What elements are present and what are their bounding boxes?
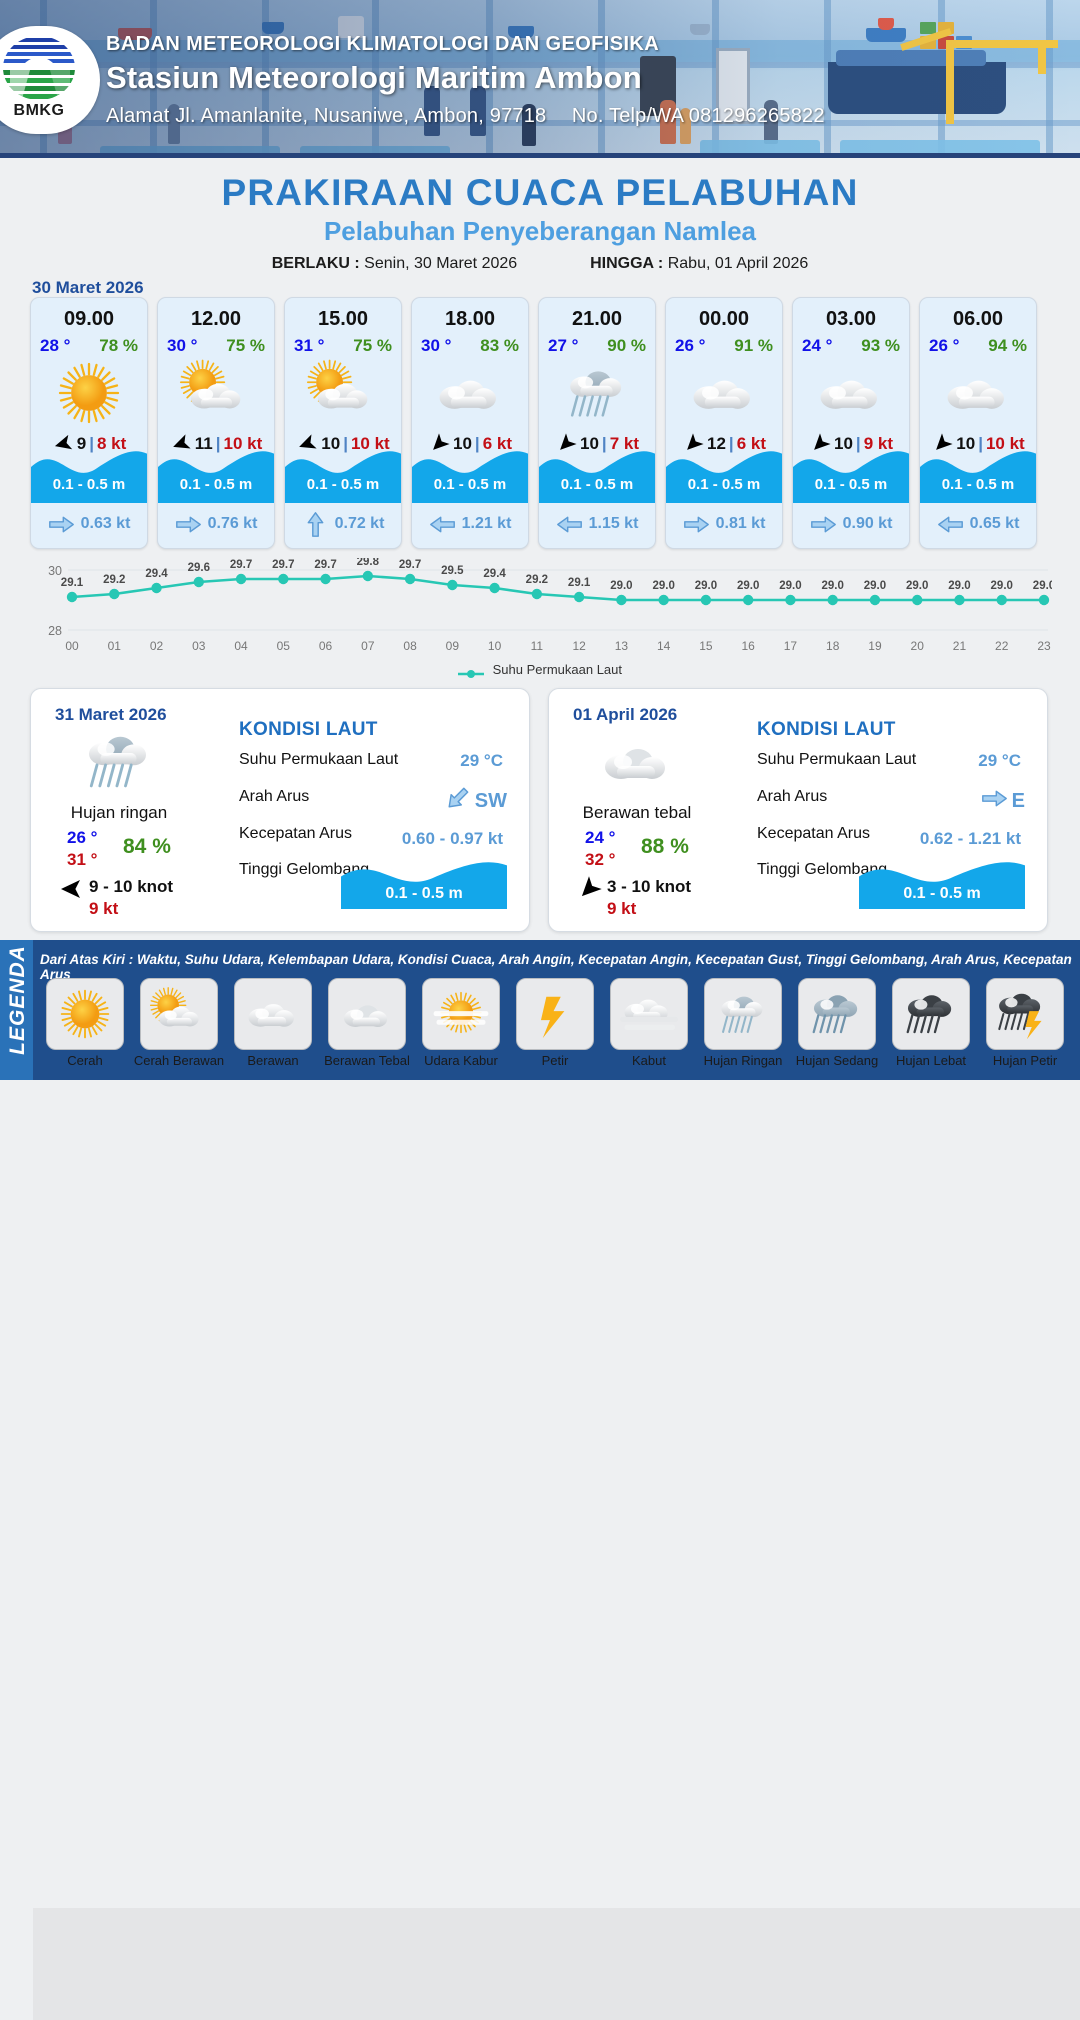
svg-text:08: 08 (403, 639, 417, 653)
svg-text:02: 02 (150, 639, 164, 653)
card-wave-height: 0.1 - 0.5 m (31, 476, 147, 493)
legend-item: Cerah Berawan (132, 978, 226, 1078)
card-wave-height: 0.1 - 0.5 m (920, 476, 1036, 493)
card-time: 15.00 (285, 308, 401, 331)
agency-name: BADAN METEOROLOGI KLIMATOLOGI DAN GEOFIS… (106, 33, 659, 56)
svg-text:16: 16 (741, 639, 755, 653)
day-panel-wind-speed: 9 - 10 knot (89, 877, 173, 897)
svg-text:15: 15 (699, 639, 713, 653)
card-time: 18.00 (412, 308, 528, 331)
svg-text:28: 28 (48, 624, 62, 638)
svg-text:29.7: 29.7 (314, 559, 336, 571)
day-panel-temp-min: 26 ° (67, 828, 97, 848)
current-direction-arrow-icon (556, 515, 583, 534)
weather-petir-icon (516, 978, 594, 1050)
svg-text:29.0: 29.0 (1033, 580, 1052, 592)
svg-text:07: 07 (361, 639, 375, 653)
current-direction-arrow-icon (981, 789, 1008, 813)
forecast-card: 18.00 30 ° 83 % 10 | 6 kt 0.1 - 0.5 m 1.… (411, 297, 529, 549)
svg-text:29.0: 29.0 (991, 580, 1013, 592)
card-wave-graphic (920, 441, 1036, 503)
card-wave-graphic (539, 441, 655, 503)
legend-item-label: Hujan Petir (978, 1053, 1072, 1068)
day-panel-date: 01 April 2026 (573, 705, 677, 725)
value-current-direction: E (981, 787, 1025, 815)
svg-text:29.2: 29.2 (526, 574, 548, 586)
weather-cerah-berawan-icon (158, 360, 274, 426)
forecast-card: 12.00 30 ° 75 % 11 | 10 kt 0.1 - 0.5 m 0… (157, 297, 275, 549)
card-temperature: 30 ° (167, 336, 197, 356)
sea-condition-heading: KONDISI LAUT (239, 719, 378, 741)
card-wave-graphic (285, 441, 401, 503)
legend-item-label: Berawan Tebal (320, 1053, 414, 1068)
svg-text:29.4: 29.4 (145, 568, 168, 580)
legend-item-label: Kabut (602, 1053, 696, 1068)
legend-item: Hujan Petir (978, 978, 1072, 1078)
card-humidity: 75 % (353, 336, 392, 356)
weather-cerah-icon (46, 978, 124, 1050)
forecast-card: 03.00 24 ° 93 % 10 | 9 kt 0.1 - 0.5 m 0.… (792, 297, 910, 549)
value-sea-surface-temp: 29 °C (978, 751, 1021, 771)
svg-text:29.0: 29.0 (652, 580, 674, 592)
label-sea-surface-temp: Suhu Permukaan Laut (757, 751, 916, 769)
weather-hujan-lebat-icon (892, 978, 970, 1050)
forecast-card: 15.00 31 ° 75 % 10 | 10 kt 0.1 - 0.5 m 0… (284, 297, 402, 549)
svg-text:11: 11 (531, 639, 544, 653)
day-panel-humidity: 88 % (641, 835, 689, 859)
weather-hujan-ringan-icon (55, 723, 183, 799)
day-panel-temp-min: 24 ° (585, 828, 615, 848)
current-direction-label: E (1012, 790, 1025, 813)
svg-text:29.0: 29.0 (906, 580, 928, 592)
sst-chart: 283029.129.229.429.629.729.729.729.829.7… (30, 558, 1052, 658)
card-wave-height: 0.1 - 0.5 m (412, 476, 528, 493)
legend-item: Hujan Ringan (696, 978, 790, 1078)
svg-text:17: 17 (784, 639, 798, 653)
weather-hujan-ringan-icon (539, 360, 655, 426)
current-direction-arrow-icon (937, 515, 964, 534)
svg-text:29.1: 29.1 (568, 577, 591, 589)
legend-item-label: Hujan Lebat (884, 1053, 978, 1068)
contact-line: Alamat Jl. Amanlanite, Nusaniwe, Ambon, … (106, 105, 825, 128)
card-current-row: 0.76 kt (158, 510, 274, 538)
card-wave-height: 0.1 - 0.5 m (158, 476, 274, 493)
day-forecast-panel-1: 31 Maret 2026 Hujan ringan 26 ° 31 ° 84 … (30, 688, 530, 932)
day-panel-wind-row: 9 - 10 knot (59, 875, 229, 899)
address-text: Alamat Jl. Amanlanite, Nusaniwe, Ambon, … (106, 105, 546, 127)
svg-text:30: 30 (48, 564, 62, 578)
weather-berawan-tebal-icon (328, 978, 406, 1050)
chart-legend-swatch (458, 667, 484, 675)
berlaku-label: BERLAKU : (272, 255, 360, 272)
card-current-speed: 0.81 kt (716, 515, 766, 533)
legend-icon-row: Cerah Cerah Berawan Berawan Berawan Teba… (38, 978, 1073, 1078)
card-temperature: 26 ° (675, 336, 705, 356)
legend-item: Berawan (226, 978, 320, 1078)
card-time: 21.00 (539, 308, 655, 331)
station-name: Stasiun Meteorologi Maritim Ambon (106, 60, 642, 96)
day-panel-date: 31 Maret 2026 (55, 705, 167, 725)
forecast-card: 21.00 27 ° 90 % 10 | 7 kt 0.1 - 0.5 m 1.… (538, 297, 656, 549)
card-wave-graphic (666, 441, 782, 503)
card-current-speed: 0.76 kt (208, 515, 258, 533)
card-humidity: 94 % (988, 336, 1027, 356)
card-wave-graphic (158, 441, 274, 503)
current-direction-label: SW (475, 790, 507, 813)
weather-cerah-berawan-icon (285, 360, 401, 426)
card-current-row: 0.90 kt (793, 510, 909, 538)
svg-text:13: 13 (615, 639, 629, 653)
value-current-direction: SW (444, 787, 507, 815)
validity-row: BERLAKU : Senin, 30 Maret 2026 HINGGA : … (0, 255, 1080, 273)
header-text-block: BADAN METEOROLOGI KLIMATOLOGI DAN GEOFIS… (106, 0, 986, 158)
svg-text:05: 05 (277, 639, 291, 653)
legend-item-label: Cerah (38, 1053, 132, 1068)
weather-berawan-icon (412, 360, 528, 426)
card-current-row: 1.21 kt (412, 510, 528, 538)
svg-text:29.1: 29.1 (61, 577, 84, 589)
svg-text:04: 04 (234, 639, 248, 653)
card-temperature: 31 ° (294, 336, 324, 356)
weather-berawan-icon (666, 360, 782, 426)
day-panel-humidity: 84 % (123, 835, 171, 859)
current-direction-arrow-icon (444, 789, 471, 813)
card-current-speed: 1.15 kt (589, 515, 639, 533)
svg-text:29.6: 29.6 (188, 562, 210, 574)
day-forecast-panel-2: 01 April 2026 Berawan tebal 24 ° 32 ° 88… (548, 688, 1048, 932)
value-sea-surface-temp: 29 °C (460, 751, 503, 771)
day-panel-temp-max: 32 ° (585, 850, 615, 870)
current-direction-arrow-icon (429, 515, 456, 534)
legend-item-label: Petir (508, 1053, 602, 1068)
svg-text:29.8: 29.8 (357, 558, 380, 568)
legend-item: Hujan Lebat (884, 978, 978, 1078)
svg-text:29.4: 29.4 (483, 568, 506, 580)
weather-berawan-icon (234, 978, 312, 1050)
label-current-direction: Arah Arus (239, 788, 309, 806)
card-current-row: 0.81 kt (666, 510, 782, 538)
svg-text:21: 21 (953, 639, 967, 653)
label-sea-surface-temp: Suhu Permukaan Laut (239, 751, 398, 769)
weather-berawan-tebal-icon (573, 723, 701, 799)
value-wave-height: 0.1 - 0.5 m (341, 885, 507, 903)
svg-text:29.5: 29.5 (441, 565, 464, 577)
card-current-row: 1.15 kt (539, 510, 655, 538)
day-panel-condition: Hujan ringan (31, 803, 207, 823)
forecast-card: 00.00 26 ° 91 % 12 | 6 kt 0.1 - 0.5 m 0.… (665, 297, 783, 549)
card-current-row: 0.72 kt (285, 510, 401, 538)
card-current-row: 0.63 kt (31, 510, 147, 538)
label-current-speed: Kecepatan Arus (757, 825, 870, 843)
card-wave-graphic (793, 441, 909, 503)
svg-text:03: 03 (192, 639, 206, 653)
legend-item: Kabut (602, 978, 696, 1078)
forecast-card: 09.00 28 ° 78 % 9 | 8 kt 0.1 - 0.5 m 0.6… (30, 297, 148, 549)
card-humidity: 90 % (607, 336, 646, 356)
card-time: 12.00 (158, 308, 274, 331)
hingga-label: HINGGA : (590, 255, 663, 272)
card-temperature: 27 ° (548, 336, 578, 356)
value-wave-height: 0.1 - 0.5 m (859, 885, 1025, 903)
phone-text: No. Telp/WA 081296265822 (572, 105, 825, 127)
svg-text:29.0: 29.0 (695, 580, 717, 592)
card-temperature: 30 ° (421, 336, 451, 356)
card-current-speed: 0.63 kt (81, 515, 131, 533)
card-temperature: 28 ° (40, 336, 70, 356)
weather-berawan-icon (920, 360, 1036, 426)
weather-kabut-icon (610, 978, 688, 1050)
weather-hujan-petir-icon (986, 978, 1064, 1050)
svg-text:29.7: 29.7 (230, 559, 252, 571)
bmkg-logo-icon (0, 34, 78, 102)
svg-text:29.0: 29.0 (864, 580, 886, 592)
legend-item: Berawan Tebal (320, 978, 414, 1078)
card-current-row: 0.65 kt (920, 510, 1036, 538)
value-current-speed: 0.60 - 0.97 kt (402, 829, 503, 849)
wind-direction-arrow-icon (577, 877, 601, 897)
weather-cerah-icon (31, 360, 147, 426)
current-direction-arrow-icon (175, 515, 202, 534)
card-time: 09.00 (31, 308, 147, 331)
svg-text:29.7: 29.7 (272, 559, 294, 571)
card-time: 00.00 (666, 308, 782, 331)
card-current-speed: 0.65 kt (970, 515, 1020, 533)
day-panel-gust: 9 kt (607, 899, 636, 919)
card-humidity: 91 % (734, 336, 773, 356)
card-humidity: 75 % (226, 336, 265, 356)
legend-item: Petir (508, 978, 602, 1078)
wind-direction-arrow-icon (59, 877, 83, 897)
svg-text:10: 10 (488, 639, 502, 653)
page-header: BMKG BADAN METEOROLOGI KLIMATOLOGI DAN G… (0, 0, 1080, 158)
card-wave-graphic (31, 441, 147, 503)
svg-text:29.0: 29.0 (779, 580, 801, 592)
sea-condition-heading: KONDISI LAUT (757, 719, 896, 741)
current-direction-arrow-icon (302, 515, 329, 534)
legend-item-label: Berawan (226, 1053, 320, 1068)
legend-item: Hujan Sedang (790, 978, 884, 1078)
card-humidity: 78 % (99, 336, 138, 356)
svg-text:29.7: 29.7 (399, 559, 421, 571)
card-time: 03.00 (793, 308, 909, 331)
current-direction-arrow-icon (810, 515, 837, 534)
legend-side-tab: LEGENDA (0, 940, 33, 1080)
day-panel-gust: 9 kt (89, 899, 118, 919)
legend-item-label: Hujan Sedang (790, 1053, 884, 1068)
day-panel-wind-speed: 3 - 10 knot (607, 877, 691, 897)
weather-udara-kabur-icon (422, 978, 500, 1050)
svg-text:14: 14 (657, 639, 671, 653)
card-wave-height: 0.1 - 0.5 m (285, 476, 401, 493)
day-panel-wind-row: 3 - 10 knot (577, 875, 747, 899)
card-humidity: 93 % (861, 336, 900, 356)
svg-text:12: 12 (572, 639, 586, 653)
current-direction-arrow-icon (48, 515, 75, 534)
legend-item: Cerah (38, 978, 132, 1078)
svg-text:29.0: 29.0 (948, 580, 970, 592)
svg-text:09: 09 (446, 639, 460, 653)
svg-text:29.0: 29.0 (822, 580, 844, 592)
card-temperature: 26 ° (929, 336, 959, 356)
svg-text:29.0: 29.0 (610, 580, 632, 592)
svg-text:18: 18 (826, 639, 840, 653)
label-current-speed: Kecepatan Arus (239, 825, 352, 843)
svg-text:06: 06 (319, 639, 333, 653)
berlaku-value: Senin, 30 Maret 2026 (364, 255, 517, 272)
card-time: 06.00 (920, 308, 1036, 331)
card-current-speed: 0.72 kt (335, 515, 385, 533)
current-direction-arrow-icon (683, 515, 710, 534)
card-wave-height: 0.1 - 0.5 m (793, 476, 909, 493)
hourly-forecast-row: 09.00 28 ° 78 % 9 | 8 kt 0.1 - 0.5 m 0.6… (30, 297, 1052, 549)
bmkg-logo-plate: BMKG (0, 26, 100, 134)
chart-legend-label: Suhu Permukaan Laut (493, 662, 622, 677)
page-title: PRAKIRAAN CUACA PELABUHAN (0, 172, 1080, 214)
card-current-speed: 0.90 kt (843, 515, 893, 533)
legend-item-label: Cerah Berawan (132, 1053, 226, 1068)
legend-panel (33, 1908, 1080, 2020)
day-panel-condition: Berawan tebal (549, 803, 725, 823)
weather-hujan-ringan-icon (704, 978, 782, 1050)
card-wave-graphic (412, 441, 528, 503)
svg-text:00: 00 (65, 639, 79, 653)
page-subtitle: Pelabuhan Penyeberangan Namlea (0, 216, 1080, 247)
value-current-speed: 0.62 - 1.21 kt (920, 829, 1021, 849)
label-current-direction: Arah Arus (757, 788, 827, 806)
weather-cerah-berawan-icon (140, 978, 218, 1050)
legend-side-label: LEGENDA (6, 945, 30, 1055)
legend-item: Udara Kabur (414, 978, 508, 1078)
forecast-date-label: 30 Maret 2026 (32, 278, 144, 298)
card-current-speed: 1.21 kt (462, 515, 512, 533)
hingga-value: Rabu, 01 April 2026 (668, 255, 809, 272)
svg-text:22: 22 (995, 639, 1009, 653)
card-wave-height: 0.1 - 0.5 m (666, 476, 782, 493)
svg-text:29.0: 29.0 (737, 580, 759, 592)
svg-text:01: 01 (108, 639, 122, 653)
forecast-card: 06.00 26 ° 94 % 10 | 10 kt 0.1 - 0.5 m 0… (919, 297, 1037, 549)
legend-item-label: Hujan Ringan (696, 1053, 790, 1068)
weather-hujan-sedang-icon (798, 978, 876, 1050)
svg-text:20: 20 (911, 639, 925, 653)
card-humidity: 83 % (480, 336, 519, 356)
svg-text:23: 23 (1037, 639, 1051, 653)
chart-legend: Suhu Permukaan Laut (0, 662, 1080, 677)
legend-item-label: Udara Kabur (414, 1053, 508, 1068)
bmkg-logo-caption: BMKG (0, 102, 96, 120)
card-wave-height: 0.1 - 0.5 m (539, 476, 655, 493)
day-panel-temp-max: 31 ° (67, 850, 97, 870)
card-temperature: 24 ° (802, 336, 832, 356)
weather-berawan-icon (793, 360, 909, 426)
svg-text:29.2: 29.2 (103, 574, 125, 586)
svg-text:19: 19 (868, 639, 882, 653)
